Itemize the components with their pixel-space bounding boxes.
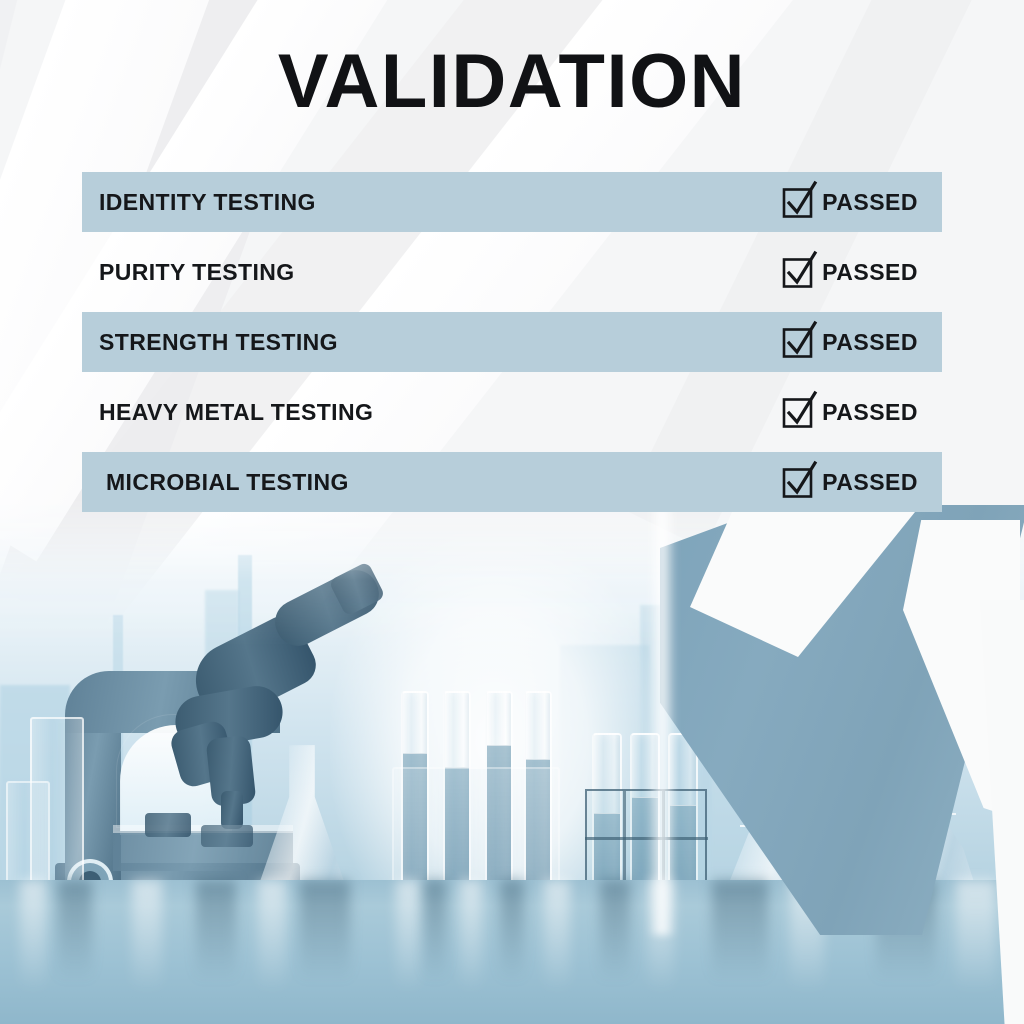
checklist-row-status: PASSED (783, 452, 942, 512)
checkbox-checked-icon[interactable] (783, 258, 811, 286)
checklist-row[interactable]: HEAVY METAL TESTING PASSED (82, 382, 942, 442)
status-badge: PASSED (822, 469, 918, 496)
poster-canvas: VALIDATION IDENTITY TESTING PASSED PURIT… (0, 0, 1024, 1024)
checklist-row-status: PASSED (783, 382, 942, 442)
checklist-row-label: HEAVY METAL TESTING (99, 399, 373, 426)
checklist-row-status: PASSED (783, 172, 942, 232)
checklist-row[interactable]: STRENGTH TESTING PASSED (82, 312, 942, 372)
checklist-row[interactable]: MICROBIAL TESTING PASSED (82, 452, 942, 512)
checklist-row-status: PASSED (783, 312, 942, 372)
checkbox-checked-icon[interactable] (783, 188, 811, 216)
checkbox-checked-icon[interactable] (783, 398, 811, 426)
lab-photo (0, 495, 1024, 1024)
checklist-row-label: MICROBIAL TESTING (99, 469, 349, 496)
checklist-row[interactable]: PURITY TESTING PASSED (82, 242, 942, 302)
checkbox-checked-icon[interactable] (783, 328, 811, 356)
page-title: VALIDATION (0, 44, 1024, 120)
checklist-row[interactable]: IDENTITY TESTING PASSED (82, 172, 942, 232)
checklist-row-label: STRENGTH TESTING (99, 329, 338, 356)
checklist-row-label: IDENTITY TESTING (99, 189, 316, 216)
checklist-row-status: PASSED (783, 242, 942, 302)
checklist-row-label: PURITY TESTING (99, 259, 295, 286)
status-badge: PASSED (822, 329, 918, 356)
status-badge: PASSED (822, 259, 918, 286)
checkbox-checked-icon[interactable] (783, 468, 811, 496)
status-badge: PASSED (822, 399, 918, 426)
status-badge: PASSED (822, 189, 918, 216)
lab-table-surface (0, 880, 1024, 1024)
validation-checklist: IDENTITY TESTING PASSED PURITY TESTING (82, 172, 942, 522)
